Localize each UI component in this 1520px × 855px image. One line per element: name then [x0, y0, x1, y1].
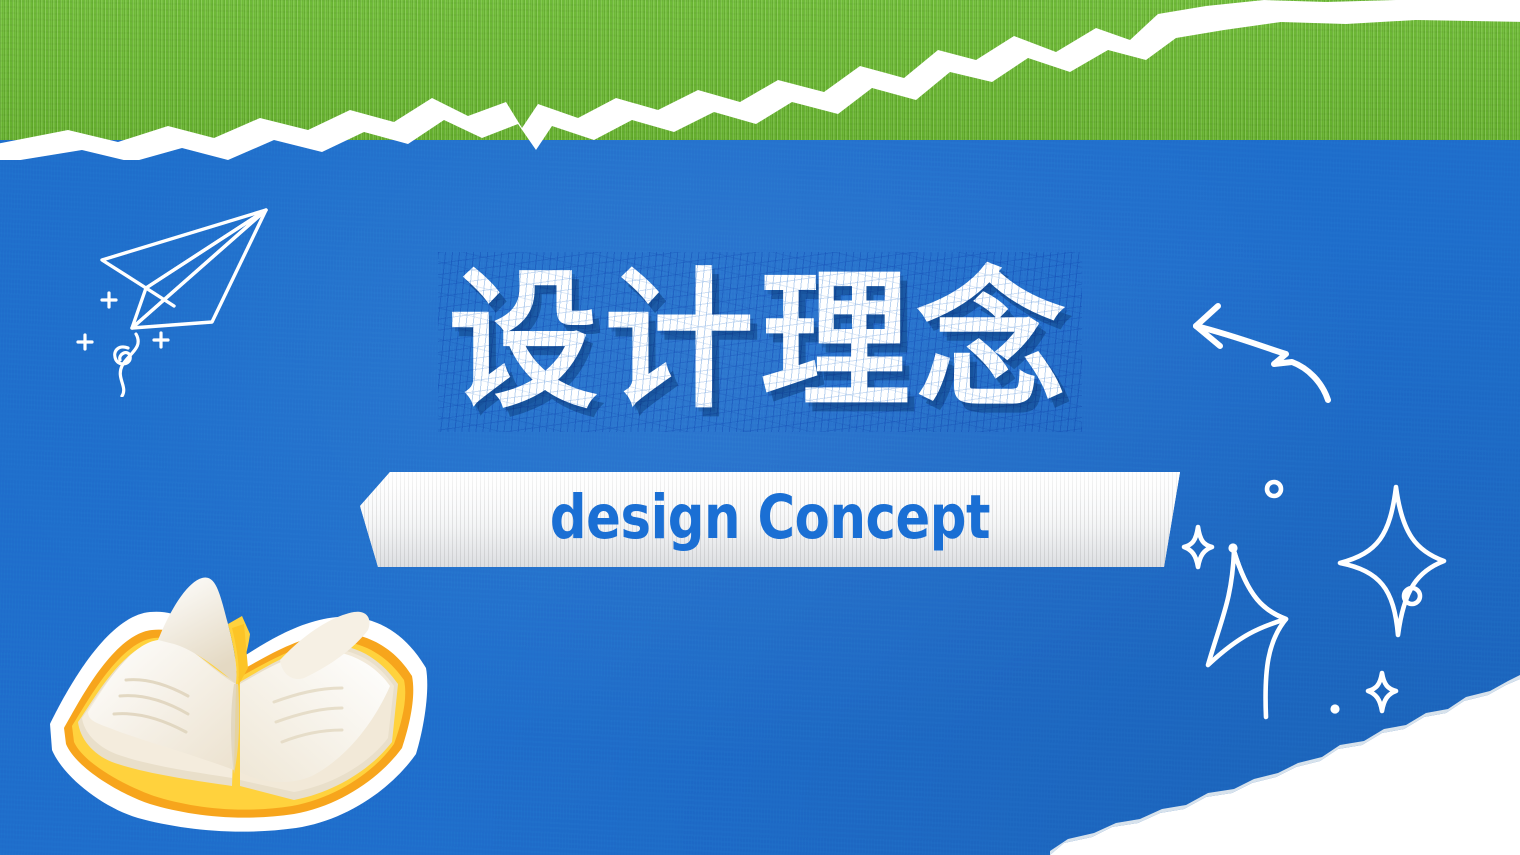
title-block: 设计理念 — [0, 258, 1520, 426]
page-subtitle: design Concept — [550, 487, 990, 553]
paper-airplane-doodle — [70, 182, 300, 397]
slide-canvas: 设计理念 design Concept — [0, 0, 1520, 855]
open-book-sticker — [42, 572, 434, 844]
green-band-stripes — [0, 0, 1520, 140]
page-title: 设计理念 — [448, 258, 1072, 426]
subtitle-ribbon: design Concept — [360, 472, 1180, 567]
zigzag-arrow-doodle — [1182, 292, 1362, 410]
torn-paper-edge-bottom-right — [1050, 645, 1520, 855]
sparkle-cluster-doodle — [1168, 455, 1480, 727]
green-top-band — [0, 0, 1520, 140]
